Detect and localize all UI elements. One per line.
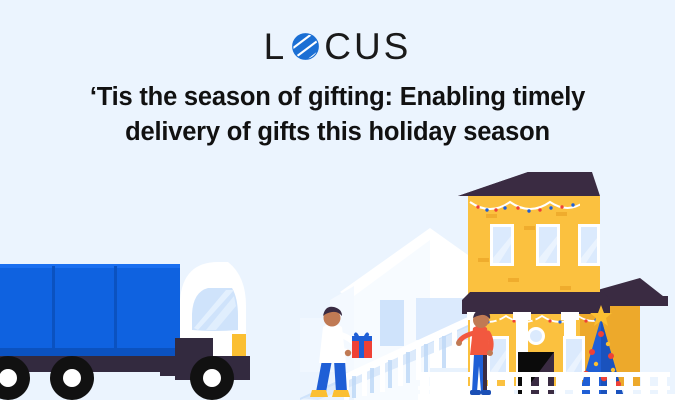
logo-text-after: CUS <box>324 28 411 65</box>
promo-banner: L CUS ‘Tis the season of gifting: Enabli… <box>0 0 675 400</box>
headline-line-1: ‘Tis the season of gifting: Enabling tim… <box>34 80 641 115</box>
locus-wordmark: L CUS <box>264 28 412 65</box>
round-window <box>527 327 545 345</box>
truck-headlight <box>232 334 246 356</box>
gift-box <box>352 332 372 358</box>
headline-line-2: delivery of gifts this holiday season <box>34 115 641 150</box>
globe-icon <box>289 30 322 63</box>
locus-logo[interactable]: L CUS <box>0 24 675 68</box>
page-title: ‘Tis the season of gifting: Enabling tim… <box>34 80 641 150</box>
logo-text-before: L <box>264 28 288 65</box>
truck-cargo-box <box>0 264 180 356</box>
picket-fence <box>418 372 675 400</box>
